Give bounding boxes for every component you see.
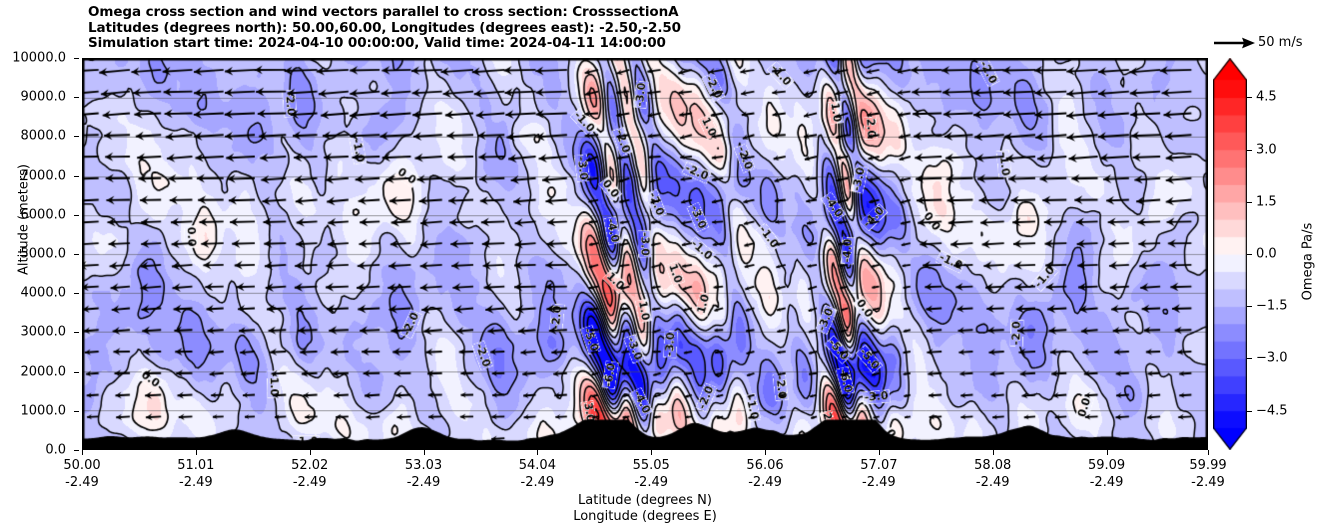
- x-tick-mark: [765, 450, 766, 455]
- x-tick-mark: [196, 450, 197, 455]
- y-tick-label: 9000.0: [21, 91, 67, 104]
- x-tick-label-longitude: -2.49: [65, 476, 99, 490]
- x-tick-label-longitude: -2.49: [976, 476, 1010, 490]
- colorbar-tick-mark: [1247, 202, 1252, 203]
- reference-vector-label: 50 m/s: [1258, 36, 1303, 50]
- y-tick-mark: [74, 372, 79, 373]
- title-line-2: Latitudes (degrees north): 50.00,60.00, …: [88, 21, 1188, 37]
- y-tick-label: 1000.0: [21, 404, 67, 417]
- title-line-1: Omega cross section and wind vectors par…: [88, 5, 1188, 21]
- y-tick-mark: [74, 332, 79, 333]
- colorbar-label: Omega Pa/s: [1301, 182, 1316, 342]
- x-tick-label-latitude: 57.07: [860, 459, 897, 473]
- x-tick-mark: [993, 450, 994, 455]
- colorbar-tick-label: 0.0: [1256, 248, 1277, 261]
- x-tick-label-latitude: 56.06: [746, 459, 783, 473]
- x-tick-label-latitude: 51.01: [177, 459, 214, 473]
- x-tick-mark: [310, 450, 311, 455]
- reference-vector-key: 50 m/s: [1213, 34, 1320, 54]
- colorbar-tick-label: 3.0: [1256, 143, 1277, 156]
- x-tick-label-longitude: -2.49: [407, 476, 441, 490]
- colorbar-tick-label: 1.5: [1256, 195, 1277, 208]
- colorbar-tick-label: −3.0: [1256, 352, 1288, 365]
- y-axis-tick-labels: 0.01000.02000.03000.04000.05000.06000.07…: [0, 58, 74, 450]
- y-tick-mark: [74, 411, 79, 412]
- y-tick-label: 2000.0: [21, 365, 67, 378]
- y-tick-mark: [74, 450, 79, 451]
- x-tick-mark: [879, 450, 880, 455]
- title-line-3: Simulation start time: 2024-04-10 00:00:…: [88, 36, 1188, 52]
- plot-area: [82, 58, 1208, 450]
- y-tick-mark: [74, 176, 79, 177]
- x-tick-label-latitude: 52.02: [291, 459, 328, 473]
- colorbar-gradient: [1213, 58, 1247, 450]
- x-tick-label-latitude: 59.99: [1189, 459, 1226, 473]
- page-title: Omega cross section and wind vectors par…: [88, 5, 1188, 52]
- colorbar-tick-mark: [1247, 150, 1252, 151]
- y-tick-mark: [74, 254, 79, 255]
- x-tick-mark: [1107, 450, 1108, 455]
- x-tick-label-longitude: -2.49: [862, 476, 896, 490]
- x-tick-label-longitude: -2.49: [1090, 476, 1124, 490]
- x-tick-label-latitude: 50.00: [63, 459, 100, 473]
- x-tick-mark: [424, 450, 425, 455]
- x-axis-label-longitude: Longitude (degrees E): [0, 509, 1290, 524]
- y-tick-label: 0.0: [45, 444, 66, 457]
- colorbar-tick-mark: [1247, 306, 1252, 307]
- y-axis-label: Altitude (meters): [17, 140, 32, 300]
- x-tick-mark: [651, 450, 652, 455]
- y-tick-mark: [74, 97, 79, 98]
- x-tick-mark: [537, 450, 538, 455]
- x-tick-label-latitude: 59.09: [1088, 459, 1125, 473]
- x-tick-mark: [82, 450, 83, 455]
- x-tick-label-latitude: 54.04: [519, 459, 556, 473]
- y-tick-mark: [74, 58, 79, 59]
- x-tick-label-latitude: 58.08: [974, 459, 1011, 473]
- y-tick-label: 10000.0: [12, 52, 66, 65]
- x-axis-label-latitude: Latitude (degrees N): [0, 493, 1290, 508]
- colorbar: [1213, 58, 1247, 450]
- x-tick-label-longitude: -2.49: [179, 476, 213, 490]
- y-tick-mark: [74, 215, 79, 216]
- colorbar-tick-label: −1.5: [1256, 300, 1288, 313]
- colorbar-tick-label: −4.5: [1256, 404, 1288, 417]
- x-tick-mark: [1208, 450, 1209, 455]
- colorbar-tick-mark: [1247, 254, 1252, 255]
- omega-cross-section-canvas: [83, 59, 1207, 449]
- x-tick-label-latitude: 53.03: [405, 459, 442, 473]
- arrow-right-icon: [1213, 34, 1257, 52]
- colorbar-tick-mark: [1247, 358, 1252, 359]
- colorbar-tick-mark: [1247, 411, 1252, 412]
- colorbar-tick-mark: [1247, 97, 1252, 98]
- y-tick-mark: [74, 136, 79, 137]
- x-tick-label-longitude: -2.49: [634, 476, 668, 490]
- x-tick-label-longitude: -2.49: [748, 476, 782, 490]
- colorbar-tick-label: 4.5: [1256, 91, 1277, 104]
- y-tick-mark: [74, 293, 79, 294]
- x-tick-label-longitude: -2.49: [1191, 476, 1225, 490]
- figure: Omega cross section and wind vectors par…: [0, 0, 1320, 526]
- x-tick-label-longitude: -2.49: [293, 476, 327, 490]
- x-tick-label-longitude: -2.49: [521, 476, 555, 490]
- x-tick-label-latitude: 55.05: [633, 459, 670, 473]
- y-tick-label: 3000.0: [21, 326, 67, 339]
